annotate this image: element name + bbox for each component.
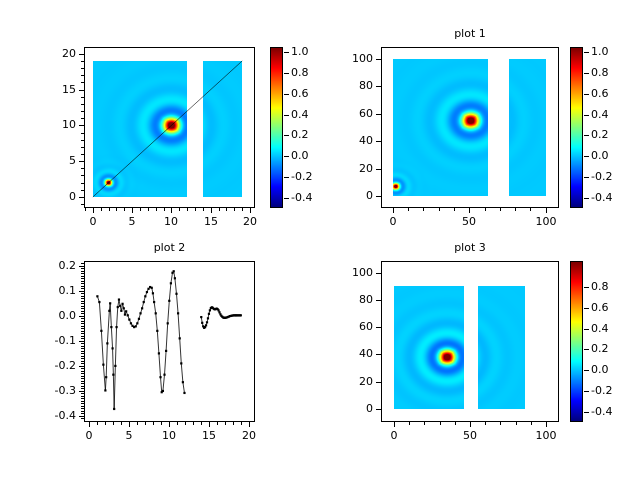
ytick-minor — [81, 318, 84, 319]
xtick-major — [546, 208, 547, 213]
ytick-minor — [81, 408, 84, 409]
ytick-major — [376, 59, 381, 60]
colorbar-tick-label: 0.0 — [591, 363, 609, 376]
ytick-major — [79, 291, 84, 292]
colorbar-tick-label: 0.0 — [591, 149, 609, 162]
xtick-label: 15 — [189, 215, 233, 228]
ytick-minor — [81, 278, 84, 279]
ytick-major — [376, 354, 381, 355]
xtick-major — [250, 208, 251, 213]
colorbar-tick-label: 0.2 — [591, 128, 609, 141]
ytick-minor — [81, 283, 84, 284]
ytick-label: 100 — [324, 52, 373, 65]
colorbar-tick — [284, 94, 289, 95]
ytick-major — [79, 197, 84, 198]
xtick-minor — [233, 422, 234, 425]
ytick-major — [79, 266, 84, 267]
panel-title-2: plot 2 — [84, 241, 255, 254]
axes-0 — [84, 47, 255, 208]
xtick-minor — [201, 422, 202, 425]
ytick-major — [376, 273, 381, 274]
ytick-minor — [81, 373, 84, 374]
xtick-minor — [156, 208, 157, 211]
colorbar-tick — [284, 177, 289, 178]
ytick-minor — [81, 271, 84, 272]
xtick-minor — [241, 422, 242, 425]
ytick-label: 40 — [324, 347, 373, 360]
xtick-minor — [148, 208, 149, 211]
xtick-minor — [121, 422, 122, 425]
figure-canvas: 0510152005101520-0.4-0.20.00.20.40.60.81… — [0, 0, 640, 480]
xtick-minor — [485, 422, 486, 425]
ytick-minor — [81, 308, 84, 309]
colorbar-gradient — [571, 48, 582, 207]
ytick-minor — [81, 276, 84, 277]
colorbar-tick — [284, 73, 289, 74]
ytick-minor — [81, 338, 84, 339]
ytick-minor — [81, 386, 84, 387]
axes-2 — [84, 261, 255, 422]
axes-1 — [381, 47, 559, 208]
xtick-major — [169, 422, 170, 427]
colorbar-tick — [584, 349, 589, 350]
ytick-minor — [81, 118, 84, 119]
ytick-label: 20 — [324, 375, 373, 388]
xtick-minor — [500, 208, 501, 211]
xtick-major — [393, 208, 394, 213]
panel-title-1: plot 1 — [381, 27, 559, 40]
colorbar-tick — [584, 52, 589, 53]
xtick-minor — [530, 208, 531, 211]
ytick-major — [376, 409, 381, 410]
xtick-label: 0 — [67, 429, 111, 442]
xtick-minor — [137, 422, 138, 425]
colorbar-tick-label: 0.4 — [291, 108, 309, 121]
xtick-major — [546, 422, 547, 427]
colorbar-tick — [584, 115, 589, 116]
ytick-minor — [81, 368, 84, 369]
ytick-minor — [81, 326, 84, 327]
ytick-minor — [81, 378, 84, 379]
xtick-label: 0 — [372, 429, 416, 442]
xtick-minor — [203, 208, 204, 211]
xtick-minor — [193, 422, 194, 425]
xtick-label: 0 — [371, 215, 415, 228]
ytick-minor — [81, 388, 84, 389]
ytick-label: -0.1 — [27, 334, 76, 347]
ytick-minor — [81, 346, 84, 347]
xtick-minor — [515, 208, 516, 211]
ytick-minor — [81, 175, 84, 176]
ytick-minor — [81, 383, 84, 384]
xtick-major — [469, 208, 470, 213]
xtick-major — [209, 422, 210, 427]
ytick-minor — [81, 204, 84, 205]
ytick-label: 10 — [27, 118, 76, 131]
ytick-major — [79, 416, 84, 417]
xtick-minor — [234, 208, 235, 211]
colorbar-tick-label: 0.2 — [291, 128, 309, 141]
ytick-minor — [81, 268, 84, 269]
ytick-major — [376, 196, 381, 197]
xtick-minor — [109, 208, 110, 211]
colorbar-tick — [584, 94, 589, 95]
xtick-label: 0 — [71, 215, 115, 228]
ytick-label: 100 — [324, 266, 373, 279]
ytick-minor — [81, 358, 84, 359]
ytick-minor — [81, 296, 84, 297]
ytick-minor — [81, 381, 84, 382]
ytick-label: -0.3 — [27, 384, 76, 397]
ytick-label: 15 — [27, 83, 76, 96]
ytick-label: 0 — [27, 190, 76, 203]
ytick-minor — [81, 61, 84, 62]
xtick-minor — [97, 422, 98, 425]
ytick-minor — [81, 298, 84, 299]
ytick-minor — [81, 82, 84, 83]
heatmap-image-0 — [85, 48, 254, 207]
ytick-minor — [81, 411, 84, 412]
xtick-minor — [179, 208, 180, 211]
colorbar-tick — [584, 391, 589, 392]
ytick-minor — [81, 111, 84, 112]
ytick-minor — [81, 147, 84, 148]
ytick-minor — [81, 303, 84, 304]
ytick-major — [376, 114, 381, 115]
ytick-minor — [81, 154, 84, 155]
ytick-minor — [81, 418, 84, 419]
colorbar-tick — [284, 156, 289, 157]
ytick-major — [79, 341, 84, 342]
axes-3 — [381, 261, 559, 422]
xtick-minor — [124, 208, 125, 211]
ytick-minor — [81, 406, 84, 407]
colorbar-tick — [584, 177, 589, 178]
xtick-minor — [408, 208, 409, 211]
ytick-label: 60 — [324, 107, 373, 120]
colorbar-tick — [284, 198, 289, 199]
colorbar-tick-label: -0.2 — [291, 170, 312, 183]
ytick-label: 20 — [324, 162, 373, 175]
xtick-label: 100 — [524, 215, 568, 228]
colorbar-tick — [584, 198, 589, 199]
xtick-label: 15 — [187, 429, 231, 442]
xtick-label: 20 — [228, 215, 272, 228]
colorbar-tick — [584, 308, 589, 309]
xtick-minor — [225, 422, 226, 425]
colorbar-tick-label: 0.4 — [591, 322, 609, 335]
ytick-minor — [81, 393, 84, 394]
ytick-label: -0.2 — [27, 359, 76, 372]
xtick-minor — [440, 422, 441, 425]
colorbar-1 — [570, 47, 583, 208]
colorbar-tick — [284, 135, 289, 136]
colorbar-tick — [584, 156, 589, 157]
xtick-minor — [153, 422, 154, 425]
colorbar-tick — [584, 135, 589, 136]
ytick-minor — [81, 104, 84, 105]
ytick-minor — [81, 286, 84, 287]
colorbar-tick — [584, 287, 589, 288]
ytick-major — [376, 86, 381, 87]
ytick-minor — [81, 396, 84, 397]
ytick-minor — [81, 353, 84, 354]
xtick-minor — [219, 208, 220, 211]
xtick-minor — [409, 422, 410, 425]
colorbar-tick — [584, 370, 589, 371]
ytick-minor — [81, 288, 84, 289]
xtick-minor — [500, 422, 501, 425]
ytick-minor — [81, 356, 84, 357]
ytick-minor — [81, 293, 84, 294]
ytick-label: 80 — [324, 293, 373, 306]
colorbar-tick — [584, 412, 589, 413]
xtick-minor — [226, 208, 227, 211]
xtick-major — [93, 208, 94, 213]
colorbar-tick-label: 1.0 — [591, 45, 609, 58]
ytick-label: 0.0 — [27, 309, 76, 322]
colorbar-tick-label: 1.0 — [291, 45, 309, 58]
colorbar-tick — [584, 73, 589, 74]
ytick-major — [79, 125, 84, 126]
heatmap-image-1 — [382, 48, 558, 207]
ytick-label: 80 — [324, 79, 373, 92]
xtick-label: 50 — [447, 215, 491, 228]
xtick-minor — [113, 422, 114, 425]
ytick-minor — [81, 68, 84, 69]
heatmap-image-3 — [382, 262, 558, 421]
xtick-minor — [185, 422, 186, 425]
ytick-major — [376, 141, 381, 142]
ytick-minor — [81, 336, 84, 337]
panel-title-3: plot 3 — [381, 241, 559, 254]
xtick-major — [470, 422, 471, 427]
colorbar-3 — [570, 261, 583, 422]
line-series-2 — [85, 262, 254, 421]
ytick-minor — [81, 133, 84, 134]
ytick-minor — [81, 140, 84, 141]
ytick-major — [79, 316, 84, 317]
xtick-label: 5 — [107, 429, 151, 442]
ytick-major — [376, 169, 381, 170]
xtick-major — [171, 208, 172, 213]
colorbar-tick-label: 0.8 — [591, 66, 609, 79]
ytick-label: 0.2 — [27, 259, 76, 272]
xtick-minor — [145, 422, 146, 425]
ytick-minor — [81, 401, 84, 402]
ytick-label: 5 — [27, 154, 76, 167]
xtick-minor — [424, 422, 425, 425]
xtick-minor — [516, 422, 517, 425]
xtick-minor — [439, 208, 440, 211]
ytick-major — [79, 391, 84, 392]
ytick-minor — [81, 190, 84, 191]
ytick-minor — [81, 403, 84, 404]
ytick-minor — [81, 321, 84, 322]
xtick-minor — [217, 422, 218, 425]
xtick-minor — [485, 208, 486, 211]
ytick-major — [376, 382, 381, 383]
colorbar-tick-label: -0.2 — [591, 170, 612, 183]
colorbar-tick — [584, 329, 589, 330]
ytick-major — [79, 366, 84, 367]
ytick-minor — [81, 281, 84, 282]
ytick-minor — [81, 333, 84, 334]
xtick-minor — [177, 422, 178, 425]
ytick-minor — [81, 313, 84, 314]
colorbar-tick-label: -0.4 — [291, 191, 312, 204]
ytick-minor — [81, 413, 84, 414]
xtick-minor — [116, 208, 117, 211]
ytick-minor — [81, 273, 84, 274]
colorbar-tick-label: 0.8 — [591, 280, 609, 293]
ytick-minor — [81, 75, 84, 76]
ytick-minor — [81, 263, 84, 264]
colorbar-tick — [284, 52, 289, 53]
xtick-minor — [242, 208, 243, 211]
ytick-minor — [81, 343, 84, 344]
ytick-minor — [81, 323, 84, 324]
ytick-label: 60 — [324, 320, 373, 333]
ytick-major — [79, 161, 84, 162]
ytick-minor — [81, 361, 84, 362]
ytick-label: -0.4 — [27, 409, 76, 422]
xtick-major — [89, 422, 90, 427]
colorbar-tick-label: 0.2 — [591, 342, 609, 355]
ytick-minor — [81, 306, 84, 307]
xtick-minor — [531, 422, 532, 425]
xtick-major — [129, 422, 130, 427]
ytick-label: 0 — [324, 402, 373, 415]
ytick-minor — [81, 351, 84, 352]
colorbar-tick-label: 0.6 — [291, 87, 309, 100]
ytick-minor — [81, 168, 84, 169]
ytick-label: 0.1 — [27, 284, 76, 297]
ytick-minor — [81, 363, 84, 364]
colorbar-tick — [284, 115, 289, 116]
colorbar-0 — [270, 47, 283, 208]
xtick-major — [249, 422, 250, 427]
colorbar-gradient — [271, 48, 282, 207]
ytick-minor — [81, 328, 84, 329]
xtick-label: 100 — [524, 429, 568, 442]
xtick-major — [211, 208, 212, 213]
xtick-minor — [187, 208, 188, 211]
xtick-minor — [105, 422, 106, 425]
ytick-minor — [81, 348, 84, 349]
xtick-label: 10 — [149, 215, 193, 228]
xtick-label: 10 — [147, 429, 191, 442]
xtick-major — [394, 422, 395, 427]
xtick-label: 50 — [448, 429, 492, 442]
ytick-label: 0 — [324, 189, 373, 202]
ytick-minor — [81, 301, 84, 302]
ytick-minor — [81, 311, 84, 312]
ytick-minor — [81, 398, 84, 399]
ytick-minor — [81, 371, 84, 372]
ytick-major — [376, 300, 381, 301]
ytick-minor — [81, 97, 84, 98]
xtick-minor — [455, 422, 456, 425]
ytick-minor — [81, 183, 84, 184]
colorbar-tick-label: 0.4 — [591, 108, 609, 121]
xtick-major — [132, 208, 133, 213]
colorbar-gradient — [571, 262, 582, 421]
xtick-minor — [195, 208, 196, 211]
colorbar-tick-label: -0.4 — [591, 191, 612, 204]
colorbar-tick-label: 0.0 — [291, 149, 309, 162]
xtick-minor — [101, 208, 102, 211]
colorbar-tick-label: 0.6 — [591, 87, 609, 100]
ytick-major — [79, 54, 84, 55]
xtick-minor — [140, 208, 141, 211]
xtick-minor — [423, 208, 424, 211]
ytick-label: 20 — [27, 47, 76, 60]
xtick-label: 20 — [227, 429, 271, 442]
xtick-minor — [85, 208, 86, 211]
xtick-label: 5 — [110, 215, 154, 228]
xtick-minor — [161, 422, 162, 425]
ytick-major — [376, 327, 381, 328]
colorbar-tick-label: 0.6 — [591, 301, 609, 314]
ytick-minor — [81, 376, 84, 377]
ytick-minor — [81, 331, 84, 332]
ytick-label: 40 — [324, 134, 373, 147]
xtick-minor — [454, 208, 455, 211]
colorbar-tick-label: -0.2 — [591, 384, 612, 397]
xtick-minor — [164, 208, 165, 211]
ytick-major — [79, 90, 84, 91]
colorbar-tick-label: -0.4 — [591, 405, 612, 418]
colorbar-tick-label: 0.8 — [291, 66, 309, 79]
